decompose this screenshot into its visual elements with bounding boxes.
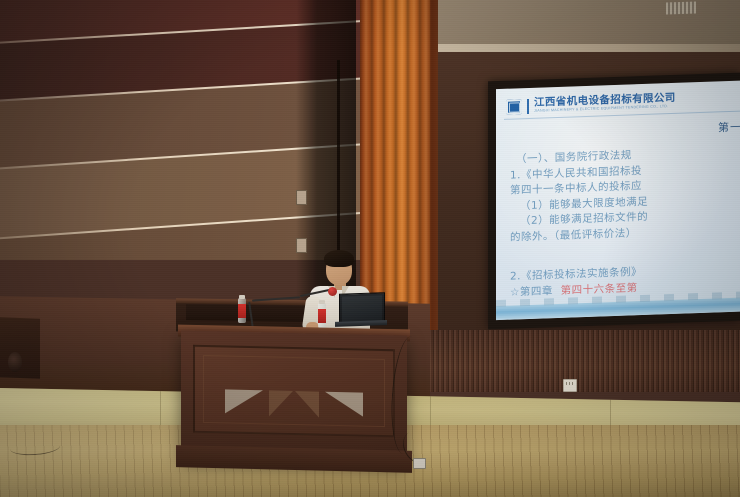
- microphone-head-icon: [328, 287, 337, 296]
- podium-chevron-left: [225, 389, 263, 414]
- company-name-block: 江西省机电设备招标有限公司 JIANGXI MACHINERY & ELECTR…: [534, 93, 676, 113]
- photo-scene: 江西省机电设备招标有限公司 JIANGXI MACHINERY & ELECTR…: [0, 0, 740, 497]
- logo-divider: [527, 98, 529, 113]
- slide-heading: 第一: [718, 119, 740, 136]
- projected-slide: 江西省机电设备招标有限公司 JIANGXI MACHINERY & ELECTR…: [496, 80, 740, 320]
- bottle-cap: [239, 295, 245, 299]
- door-hinge-upper: [296, 190, 307, 205]
- power-outlet-icon: [563, 379, 577, 392]
- water-bottle-left: [238, 295, 246, 323]
- presenter-hair: [324, 250, 354, 267]
- left-speaker-cabinet: [0, 317, 40, 378]
- cable-plug-icon: [413, 458, 426, 469]
- slide-body-text: （一）、国务院行政法规 1.《中华人民共和国招标投 第四十一条中标人的投标应 （…: [510, 144, 740, 300]
- chair-back: [186, 304, 306, 322]
- podium-chevron-center-right: [269, 390, 293, 417]
- speaker-driver-icon: [8, 352, 22, 372]
- slide-block2-highlight: 第四十六条至第: [561, 282, 638, 297]
- water-bottle-right: [318, 300, 326, 328]
- wooden-podium: [181, 330, 407, 463]
- ceiling-vent-icon: [666, 1, 696, 14]
- podium-chevron-center-left: [295, 391, 319, 418]
- slide-footer-band: [496, 297, 740, 320]
- projection-screen: 江西省机电设备招标有限公司 JIANGXI MACHINERY & ELECTR…: [488, 73, 740, 330]
- bottle-label: [238, 304, 246, 318]
- slide-block2-prefix: ☆第四章: [510, 285, 553, 298]
- podium-front-panel: [193, 345, 395, 438]
- laptop-display: [342, 295, 382, 322]
- bottle-cap: [319, 300, 325, 304]
- podium-chevron-right: [325, 392, 363, 417]
- bottle-label: [318, 309, 326, 323]
- company-logo-icon: [506, 99, 522, 115]
